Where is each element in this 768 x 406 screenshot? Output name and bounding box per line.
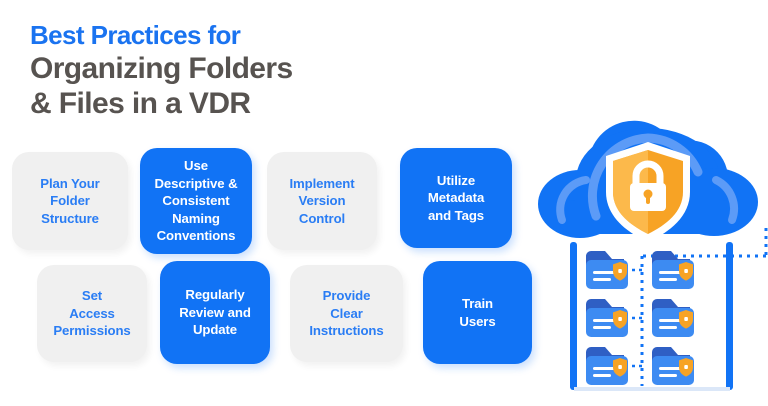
practice-card-line: and Tags	[428, 207, 484, 225]
practice-card-line: Descriptive &	[155, 175, 238, 193]
practice-card-line: Plan Your	[40, 175, 99, 193]
practice-card-use-descriptive-consistent-naming-conventions[interactable]: UseDescriptive &ConsistentNamingConventi…	[140, 148, 252, 254]
practice-card-line: Metadata	[428, 189, 484, 207]
practice-card-line: Regularly	[179, 286, 251, 304]
secure-folder-icon	[652, 299, 694, 337]
practice-card-label: ImplementVersionControl	[289, 175, 354, 228]
practice-card-line: Train	[459, 295, 495, 313]
practice-card-line: Instructions	[309, 322, 383, 340]
practice-card-line: Naming	[155, 210, 238, 228]
practice-card-label: RegularlyReview andUpdate	[179, 286, 251, 339]
vdr-security-illustration	[518, 104, 768, 406]
secure-folder-icon	[652, 347, 694, 385]
title-line-main-2: & Files in a VDR	[30, 86, 450, 121]
practice-card-line: Use	[155, 157, 238, 175]
practice-card-label: ProvideClearInstructions	[309, 287, 383, 340]
practice-card-line: Structure	[40, 210, 99, 228]
practice-card-line: Update	[179, 321, 251, 339]
secure-folder-icon	[652, 251, 694, 289]
secure-folder-icon	[586, 347, 628, 385]
practice-card-label: TrainUsers	[459, 295, 495, 330]
practice-card-line: Conventions	[155, 227, 238, 245]
practice-card-label: Plan YourFolderStructure	[40, 175, 99, 228]
secure-folder-icon	[586, 251, 628, 289]
practice-card-line: Implement	[289, 175, 354, 193]
practice-card-train-users[interactable]: TrainUsers	[423, 261, 532, 364]
practice-card-utilize-metadata-and-tags[interactable]: UtilizeMetadataand Tags	[400, 148, 512, 248]
practice-card-line: Version	[289, 192, 354, 210]
practice-card-set-access-permissions[interactable]: SetAccessPermissions	[37, 265, 147, 362]
practice-card-provide-clear-instructions[interactable]: ProvideClearInstructions	[290, 265, 403, 362]
practice-card-line: Permissions	[53, 322, 130, 340]
practice-card-line: Folder	[40, 192, 99, 210]
practice-card-line: Access	[53, 305, 130, 323]
practice-card-implement-version-control[interactable]: ImplementVersionControl	[267, 152, 377, 250]
practice-card-line: Set	[53, 287, 130, 305]
practice-card-plan-your-folder-structure[interactable]: Plan YourFolderStructure	[12, 152, 128, 250]
practice-card-line: Clear	[309, 305, 383, 323]
title-line-accent: Best Practices for	[30, 20, 450, 51]
practice-card-regularly-review-and-update[interactable]: RegularlyReview andUpdate	[160, 261, 270, 364]
practice-card-label: UtilizeMetadataand Tags	[428, 172, 484, 225]
practice-card-label: UseDescriptive &ConsistentNamingConventi…	[155, 157, 238, 245]
practice-card-line: Users	[459, 313, 495, 331]
page-title: Best Practices for Organizing Folders & …	[30, 20, 450, 121]
practice-card-line: Provide	[309, 287, 383, 305]
practice-card-line: Consistent	[155, 192, 238, 210]
practice-card-label: SetAccessPermissions	[53, 287, 130, 340]
practice-card-line: Control	[289, 210, 354, 228]
practice-card-line: Utilize	[428, 172, 484, 190]
practice-card-line: Review and	[179, 304, 251, 322]
title-line-main-1: Organizing Folders	[30, 51, 450, 86]
secure-folder-icon	[586, 299, 628, 337]
